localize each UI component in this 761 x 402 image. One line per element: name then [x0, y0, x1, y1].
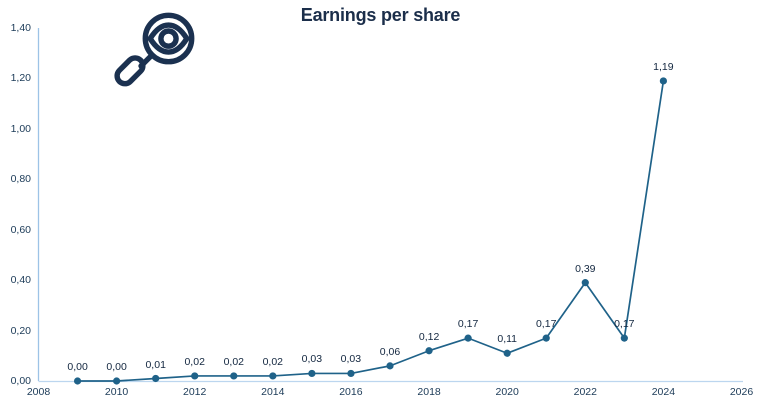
data-point-label: 0,17 — [458, 318, 478, 330]
data-point-label: 0,12 — [419, 331, 439, 343]
y-axis-tick-label: 0,40 — [0, 274, 31, 286]
data-point[interactable] — [152, 375, 159, 382]
data-point-label: 0,39 — [575, 263, 595, 275]
data-point[interactable] — [504, 350, 511, 357]
y-axis-tick-label: 1,20 — [0, 72, 31, 84]
y-axis-tick-label: 0,20 — [0, 325, 31, 337]
data-point[interactable] — [191, 372, 198, 379]
y-axis-tick-label: 1,00 — [0, 123, 31, 135]
data-point-label: 0,02 — [263, 356, 283, 368]
plot-area — [0, 0, 761, 402]
data-point-label: 1,19 — [653, 61, 673, 73]
x-axis-tick-label: 2016 — [339, 386, 362, 398]
data-point-label: 0,02 — [224, 356, 244, 368]
x-axis-tick-label: 2018 — [417, 386, 440, 398]
data-point-label: 0,11 — [497, 333, 517, 345]
x-axis-tick-label: 2012 — [183, 386, 206, 398]
data-point-label: 0,03 — [302, 353, 322, 365]
data-point[interactable] — [113, 377, 120, 384]
x-axis-tick-label: 2014 — [261, 386, 284, 398]
x-axis-tick-label: 2026 — [730, 386, 753, 398]
data-point-label: 0,06 — [380, 346, 400, 358]
data-point[interactable] — [269, 372, 276, 379]
x-axis-tick-label: 2022 — [574, 386, 597, 398]
y-axis-tick-label: 0,80 — [0, 173, 31, 185]
data-point-label: 0,17 — [536, 318, 556, 330]
data-point[interactable] — [386, 362, 393, 369]
x-axis-tick-label: 2024 — [652, 386, 675, 398]
x-axis-tick-label: 2020 — [496, 386, 519, 398]
data-point[interactable] — [74, 377, 81, 384]
data-point[interactable] — [543, 335, 550, 342]
data-point[interactable] — [347, 370, 354, 377]
data-point[interactable] — [425, 347, 432, 354]
y-axis-tick-label: 0,60 — [0, 224, 31, 236]
data-point-label: 0,03 — [341, 353, 361, 365]
data-point-label: 0,17 — [614, 318, 634, 330]
data-point-label: 0,01 — [145, 359, 165, 371]
data-point-label: 0,00 — [67, 361, 87, 373]
chart-container: Earnings per share 0,000,200,400,600,801… — [0, 0, 761, 402]
data-point[interactable] — [230, 372, 237, 379]
data-point[interactable] — [582, 279, 589, 286]
data-point[interactable] — [465, 335, 472, 342]
data-point-label: 0,00 — [106, 361, 126, 373]
data-markers — [74, 77, 667, 384]
x-axis-tick-label: 2010 — [105, 386, 128, 398]
data-point[interactable] — [660, 77, 667, 84]
data-line — [78, 81, 664, 381]
x-axis-tick-label: 2008 — [27, 386, 50, 398]
data-point[interactable] — [621, 335, 628, 342]
y-axis-tick-label: 1,40 — [0, 22, 31, 34]
data-point[interactable] — [308, 370, 315, 377]
data-point-label: 0,02 — [184, 356, 204, 368]
axis-lines — [39, 28, 744, 382]
